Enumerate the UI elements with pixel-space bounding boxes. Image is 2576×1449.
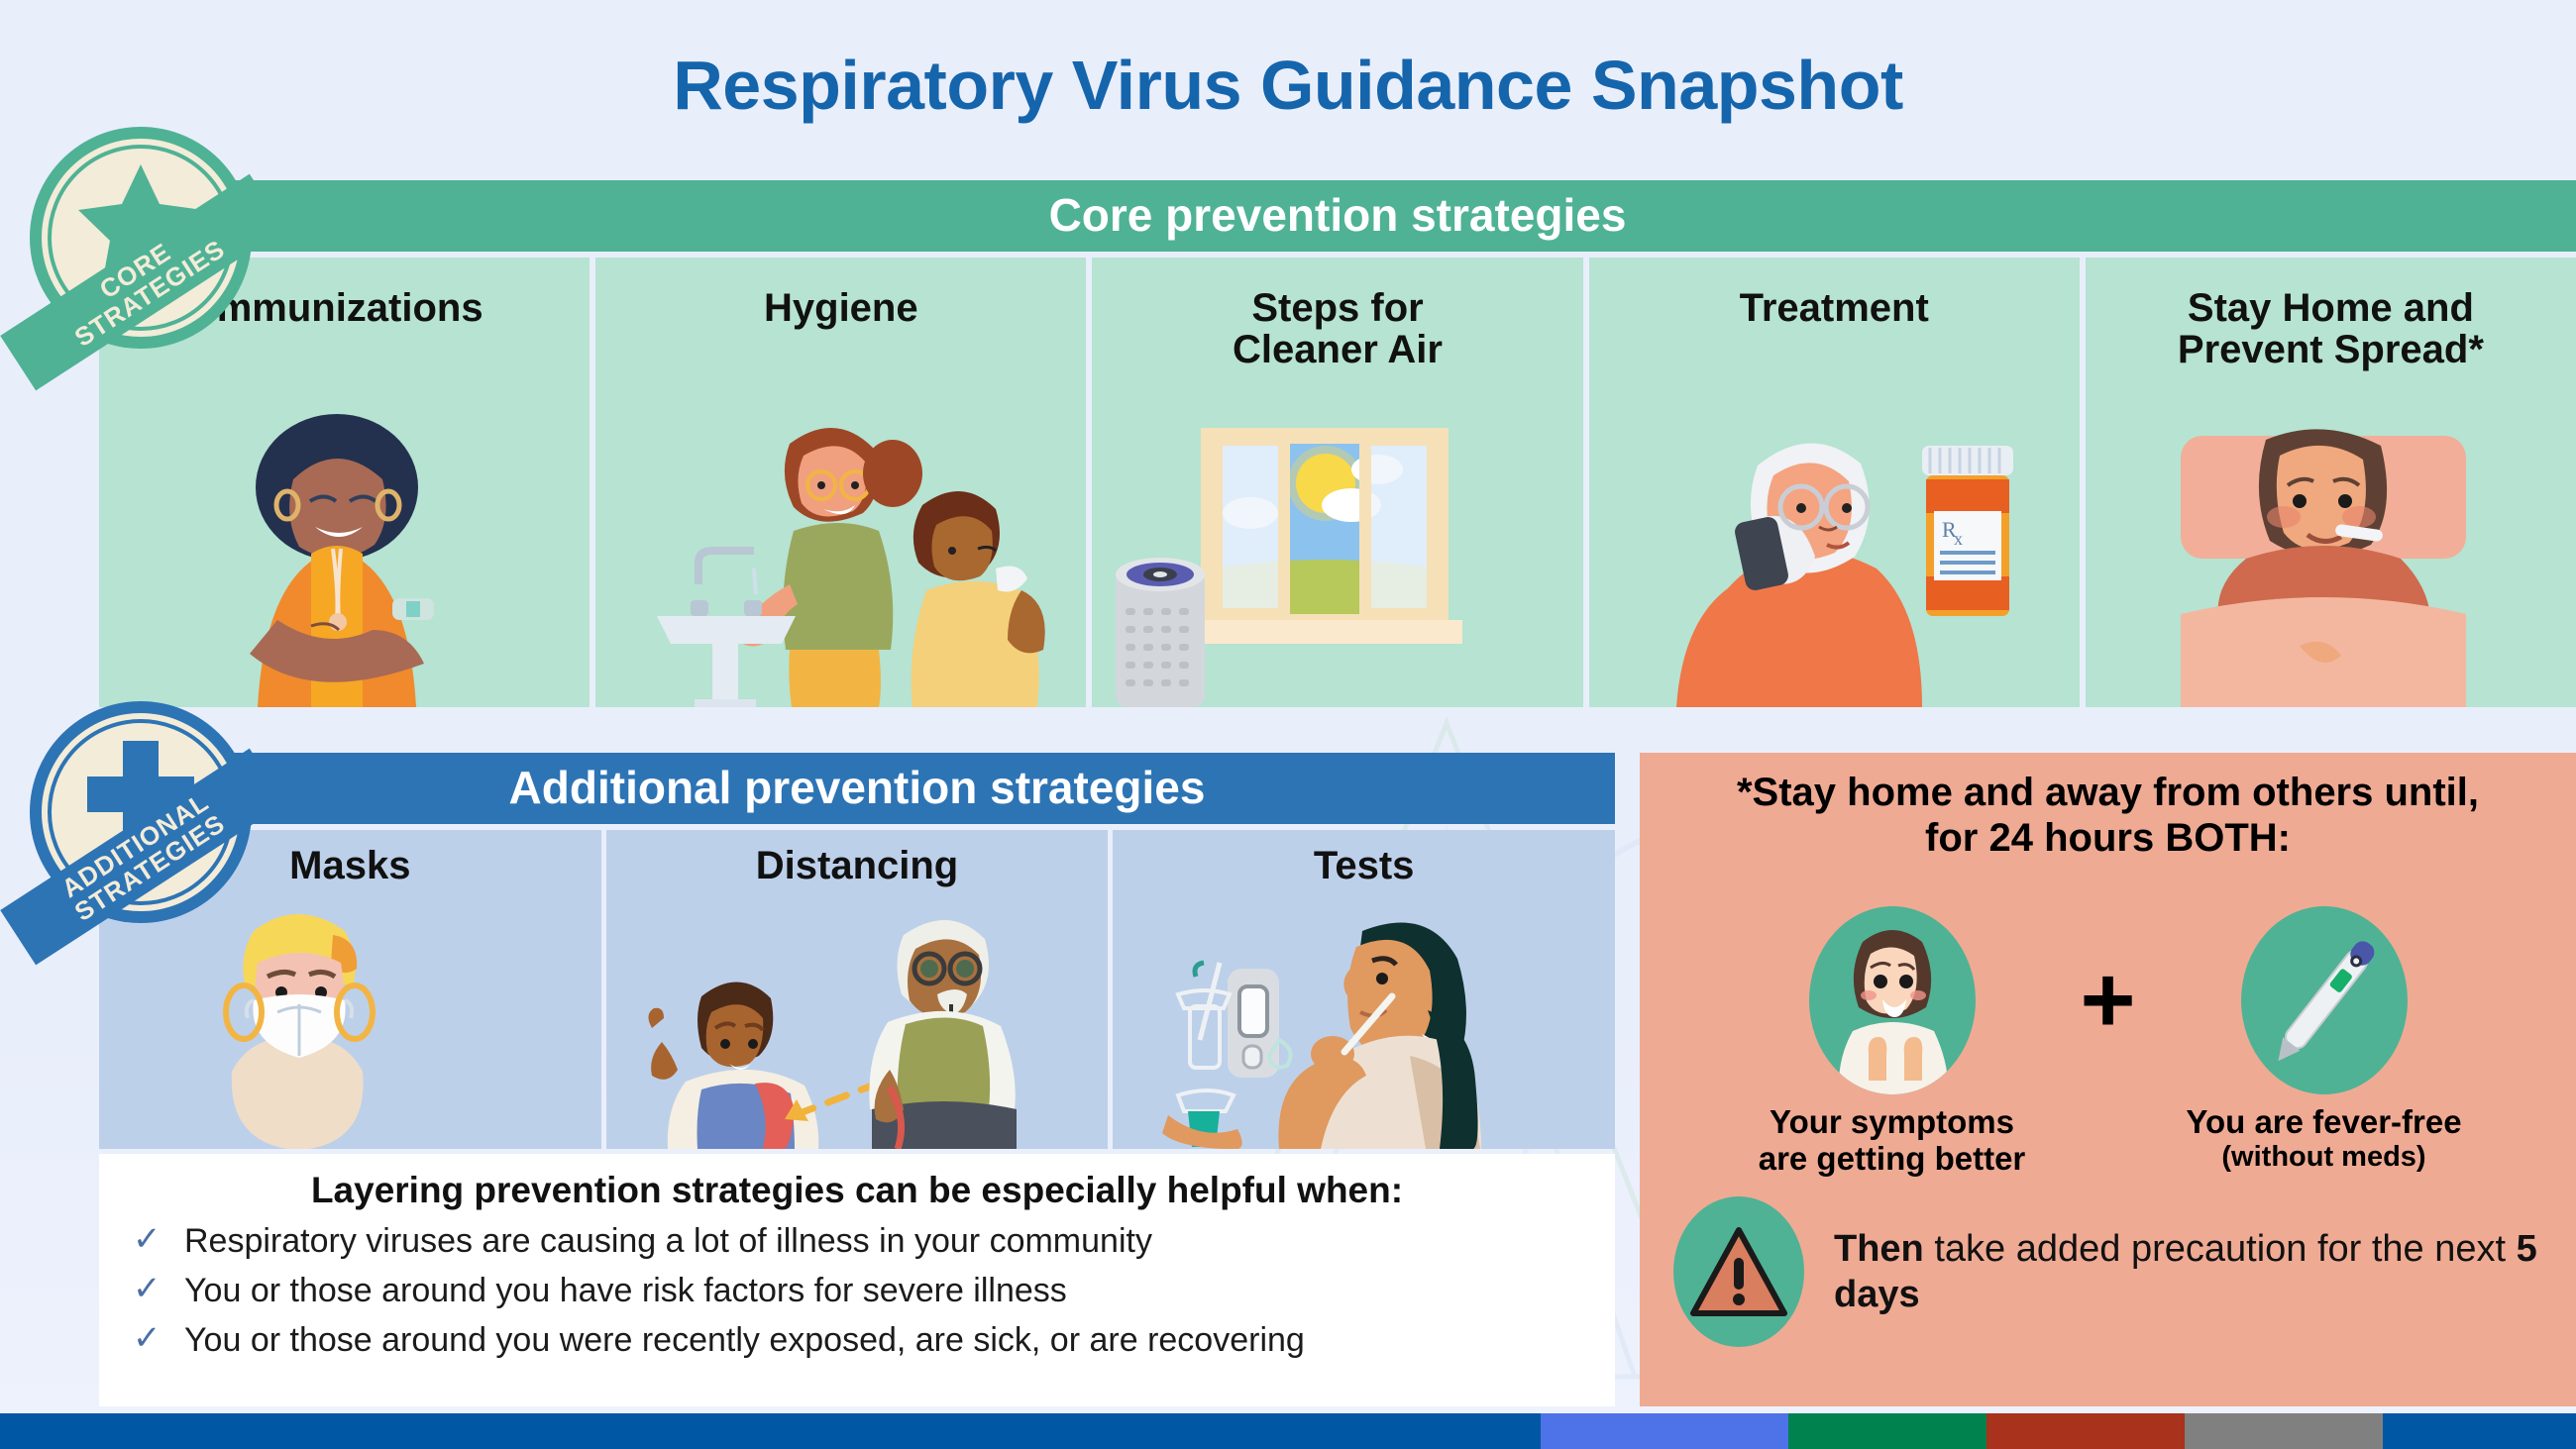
open-window-air-purifier-icon xyxy=(1092,410,1567,707)
thermometer-icon xyxy=(2241,906,2408,1094)
core-strategies-band: Core prevention strategies xyxy=(99,180,2576,252)
core-strategies-cards: Immunizations Hygien xyxy=(99,258,2576,707)
plus-icon: + xyxy=(2054,906,2163,1094)
pink-panel-heading: *Stay home and away from others until, f… xyxy=(1640,753,2576,861)
pink-heading-line2: for 24 hours BOTH: xyxy=(1667,816,2548,862)
segment-green xyxy=(1788,1413,1986,1449)
additional-card-title: Distancing xyxy=(606,844,1109,888)
check-icon: ✓ xyxy=(133,1272,162,1305)
core-strategies-seal: CORESTRATEGIES xyxy=(22,119,260,357)
additional-card-title: Tests xyxy=(1113,844,1615,888)
layering-item-text: Respiratory viruses are causing a lot of… xyxy=(184,1222,1152,1261)
condition-symptoms: Your symptoms are getting better xyxy=(1749,906,2036,1178)
segment-blue-main xyxy=(0,1413,1541,1449)
additional-card-tests[interactable]: Tests xyxy=(1113,830,1615,1149)
layering-heading: Layering prevention strategies can be es… xyxy=(99,1154,1615,1211)
additional-card-distancing[interactable]: Distancing xyxy=(606,830,1109,1149)
core-band-label: Core prevention strategies xyxy=(99,188,2576,242)
core-card-stay-home[interactable]: Stay Home and Prevent Spread* xyxy=(2086,258,2576,707)
core-card-title: Hygiene xyxy=(601,287,1080,329)
page-title: Respiratory Virus Guidance Snapshot xyxy=(0,46,2576,125)
then-middle: take added precaution for the next xyxy=(1924,1228,2517,1270)
smiling-woman-thumbs-up-icon xyxy=(1809,906,1976,1094)
caption-sub: (without meds) xyxy=(2181,1141,2468,1173)
layering-list-item: ✓ You or those around you have risk fact… xyxy=(99,1261,1615,1310)
pink-heading-line1: *Stay home and away from others until, xyxy=(1667,771,2548,816)
layering-list-item: ✓ You or those around you were recently … xyxy=(99,1310,1615,1360)
segment-periwinkle xyxy=(1541,1413,1788,1449)
then-precaution-row: Then take added precaution for the next … xyxy=(1640,1196,2576,1347)
vaccinated-woman-icon xyxy=(99,410,575,707)
layering-list-item: ✓ Respiratory viruses are causing a lot … xyxy=(99,1211,1615,1261)
layering-item-text: You or those around you were recently ex… xyxy=(184,1321,1305,1360)
stay-home-details-panel: *Stay home and away from others until, f… xyxy=(1640,753,2576,1406)
check-icon: ✓ xyxy=(133,1321,162,1355)
core-card-treatment[interactable]: Treatment xyxy=(1589,258,2080,707)
warning-triangle-icon xyxy=(1673,1196,1804,1347)
handwashing-sneezing-icon xyxy=(595,410,1071,707)
core-card-title: Steps for Cleaner Air xyxy=(1098,287,1576,371)
segment-rust xyxy=(1986,1413,2185,1449)
then-prefix: Then xyxy=(1834,1228,1924,1270)
caption-line2: are getting better xyxy=(1759,1140,2026,1177)
layering-strategies-box: Layering prevention strategies can be es… xyxy=(99,1154,1615,1406)
condition-fever-free: You are fever-free (without meds) xyxy=(2181,906,2468,1173)
sick-woman-in-bed-icon xyxy=(2086,410,2561,707)
condition-caption: Your symptoms are getting better xyxy=(1749,1104,2036,1178)
then-precaution-text: Then take added precaution for the next … xyxy=(1834,1226,2576,1318)
additional-strategies-cards: Masks Distancing xyxy=(99,830,1615,1149)
additional-strategies-seal: ADDITIONALSTRATEGIES xyxy=(22,693,260,931)
check-icon: ✓ xyxy=(133,1222,162,1256)
core-card-hygiene[interactable]: Hygiene xyxy=(595,258,1086,707)
distancing-arrow-icon xyxy=(606,901,1042,1149)
nasal-swab-test-icon xyxy=(1113,901,1549,1149)
infographic-poster: Respiratory Virus Guidance Snapshot Core… xyxy=(0,0,2576,1449)
condition-caption: You are fever-free (without meds) xyxy=(2181,1104,2468,1173)
segment-gray xyxy=(2185,1413,2383,1449)
core-card-cleaner-air[interactable]: Steps for Cleaner Air xyxy=(1092,258,1582,707)
additional-strategies-band: Additional prevention strategies xyxy=(99,753,1615,824)
masked-person-icon xyxy=(99,901,495,1149)
bottom-color-bar xyxy=(0,1413,2576,1449)
layering-item-text: You or those around you have risk factor… xyxy=(184,1272,1067,1310)
core-card-title: Stay Home and Prevent Spread* xyxy=(2092,287,2570,371)
segment-blue-end xyxy=(2383,1413,2576,1449)
treatment-pill-bottle-icon: R x xyxy=(1589,410,2065,707)
stay-home-conditions: Your symptoms are getting better + xyxy=(1640,906,2576,1203)
caption-line1: Your symptoms xyxy=(1770,1103,2014,1140)
additional-band-label: Additional prevention strategies xyxy=(99,761,1615,814)
caption-line1: You are fever-free xyxy=(2186,1103,2461,1140)
svg-text:x: x xyxy=(1954,529,1963,549)
core-card-title: Treatment xyxy=(1595,287,2074,329)
